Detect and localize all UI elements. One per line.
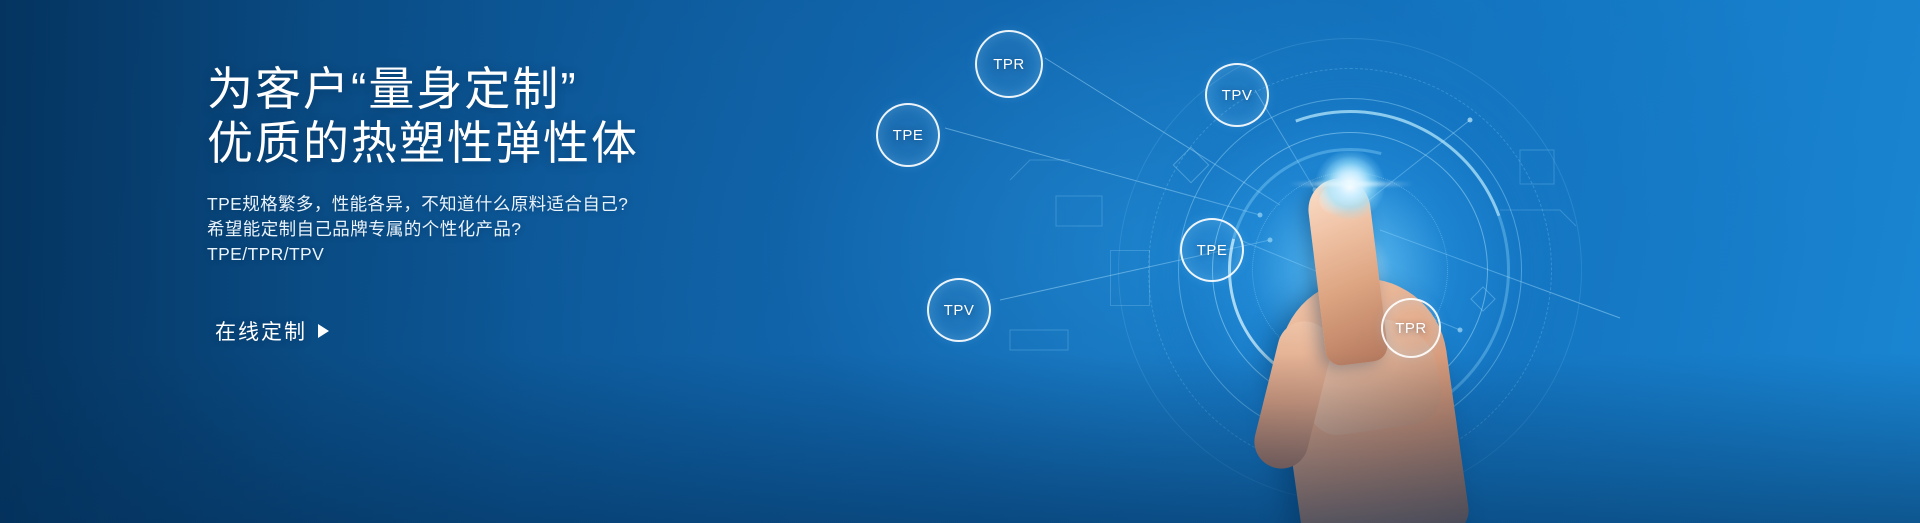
headline: 为客户“量身定制” 优质的热塑性弹性体 bbox=[207, 62, 967, 170]
bubble-tpe-2: TPE bbox=[1180, 218, 1244, 282]
bubble-tpv-1: TPV bbox=[1205, 63, 1269, 127]
bubble-tpr-2: TPR bbox=[1381, 298, 1441, 358]
bottom-vignette-overlay bbox=[0, 353, 1920, 523]
bubble-tpv-2: TPV bbox=[927, 278, 991, 342]
hand-illustration bbox=[1260, 170, 1510, 523]
bubble-label: TPE bbox=[1197, 242, 1228, 259]
cta-label: 在线定制 bbox=[215, 316, 307, 346]
hud-panel-4 bbox=[1110, 250, 1150, 306]
headline-line-1: 为客户“量身定制” bbox=[207, 62, 967, 116]
hand-palm bbox=[1268, 268, 1471, 523]
bubble-tpr-1: TPR bbox=[975, 30, 1043, 98]
hud-square-3 bbox=[1290, 390, 1304, 404]
subcopy-line-1: TPE规格繁多，性能各异，不知道什么原料适合自己? bbox=[207, 192, 967, 217]
online-customization-button[interactable]: 在线定制 bbox=[213, 310, 331, 352]
subcopy-line-3: TPE/TPR/TPV bbox=[207, 242, 967, 267]
hud-ring-inner bbox=[1212, 132, 1488, 408]
bubble-label: TPR bbox=[1395, 320, 1427, 337]
bubble-label: TPR bbox=[993, 56, 1025, 73]
bubble-label: TPV bbox=[944, 302, 975, 319]
bubble-label: TPV bbox=[1222, 87, 1253, 104]
hand-index-finger bbox=[1305, 175, 1389, 367]
hud-diamond-2 bbox=[1470, 286, 1495, 311]
touch-spark bbox=[1315, 150, 1385, 220]
play-triangle-icon bbox=[318, 324, 329, 338]
headline-line-2: 优质的热塑性弹性体 bbox=[207, 116, 967, 170]
promo-banner: TPR TPV TPE TPE TPV TPR 为客户“量身定制” 优质的热塑性… bbox=[0, 0, 1920, 523]
fingertip-glow bbox=[1322, 156, 1378, 212]
subcopy-line-2: 希望能定制自己品牌专属的个性化产品? bbox=[207, 217, 967, 242]
subcopy: TPE规格繁多，性能各异，不知道什么原料适合自己? 希望能定制自己品牌专属的个性… bbox=[207, 192, 967, 267]
hud-diamond-1 bbox=[1173, 147, 1210, 184]
hand-thumb bbox=[1249, 316, 1338, 475]
banner-copy-block: 为客户“量身定制” 优质的热塑性弹性体 TPE规格繁多，性能各异，不知道什么原料… bbox=[207, 62, 967, 267]
